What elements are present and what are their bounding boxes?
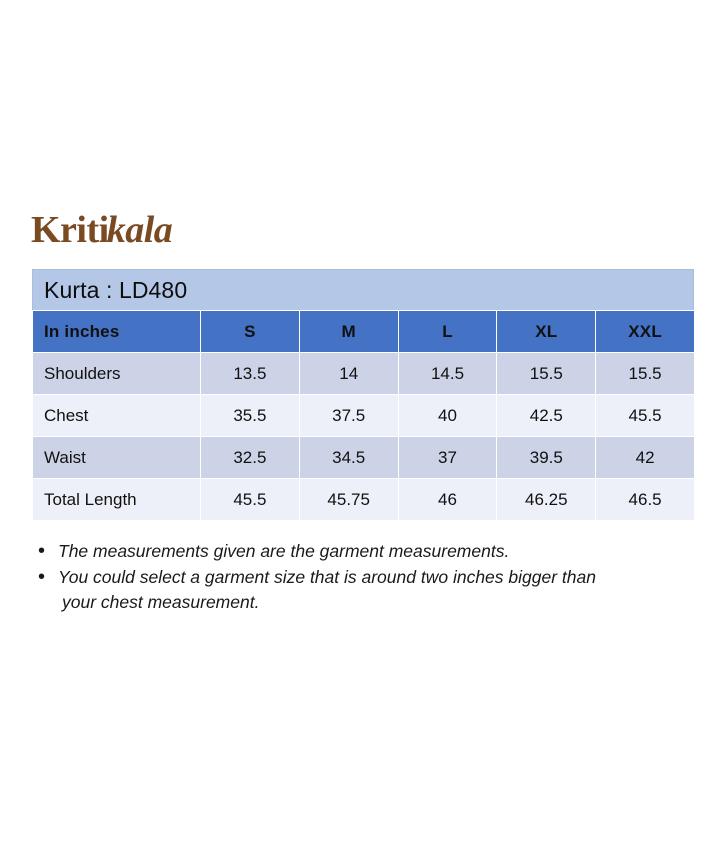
table-row: Waist 32.5 34.5 37 39.5 42 <box>33 437 695 479</box>
row-label-shoulders: Shoulders <box>33 353 201 395</box>
size-chart-table-head: In inches S M L XL XXL <box>33 311 695 353</box>
brand-logo-text-secondary: kala <box>107 209 173 251</box>
cell-waist-xxl: 42 <box>596 437 695 479</box>
row-label-waist: Waist <box>33 437 201 479</box>
cell-total-length-s: 45.5 <box>201 479 300 521</box>
cell-total-length-xl: 46.25 <box>497 479 596 521</box>
table-header-row: In inches S M L XL XXL <box>33 311 695 353</box>
note-line-wrapped: your chest measurement. <box>58 590 706 615</box>
list-item: • You could select a garment size that i… <box>34 565 706 615</box>
size-chart-title: Kurta : LD480 <box>44 279 187 302</box>
cell-shoulders-xl: 15.5 <box>497 353 596 395</box>
cell-waist-s: 32.5 <box>201 437 300 479</box>
cell-waist-xl: 39.5 <box>497 437 596 479</box>
brand-logo-text-primary: Kriti <box>31 209 109 251</box>
cell-chest-l: 40 <box>398 395 497 437</box>
cell-shoulders-s: 13.5 <box>201 353 300 395</box>
note-line: You could select a garment size that is … <box>58 567 596 587</box>
row-label-chest: Chest <box>33 395 201 437</box>
notes-list: • The measurements given are the garment… <box>34 539 706 616</box>
cell-shoulders-xxl: 15.5 <box>596 353 695 395</box>
column-header-xl: XL <box>497 311 596 353</box>
cell-chest-s: 35.5 <box>201 395 300 437</box>
note-text-1: The measurements given are the garment m… <box>58 539 706 564</box>
size-chart-title-band: Kurta : LD480 <box>32 269 694 310</box>
bullet-icon: • <box>34 565 58 590</box>
cell-shoulders-m: 14 <box>299 353 398 395</box>
list-item: • The measurements given are the garment… <box>34 539 706 564</box>
column-header-s: S <box>201 311 300 353</box>
bullet-icon: • <box>34 539 58 564</box>
column-header-unit: In inches <box>33 311 201 353</box>
size-chart-table-block: Kurta : LD480 In inches S M L XL XXL <box>32 269 694 521</box>
size-chart-table: In inches S M L XL XXL Shoulders 13.5 14… <box>32 310 695 521</box>
table-row: Chest 35.5 37.5 40 42.5 45.5 <box>33 395 695 437</box>
cell-chest-m: 37.5 <box>299 395 398 437</box>
cell-waist-m: 34.5 <box>299 437 398 479</box>
cell-total-length-m: 45.75 <box>299 479 398 521</box>
cell-waist-l: 37 <box>398 437 497 479</box>
note-line: The measurements given are the garment m… <box>58 541 509 561</box>
cell-total-length-l: 46 <box>398 479 497 521</box>
cell-total-length-xxl: 46.5 <box>596 479 695 521</box>
size-chart-table-body: Shoulders 13.5 14 14.5 15.5 15.5 Chest 3… <box>33 353 695 521</box>
table-row: Total Length 45.5 45.75 46 46.25 46.5 <box>33 479 695 521</box>
row-label-total-length: Total Length <box>33 479 201 521</box>
column-header-l: L <box>398 311 497 353</box>
cell-chest-xxl: 45.5 <box>596 395 695 437</box>
note-text-2: You could select a garment size that is … <box>58 565 706 615</box>
size-chart-page: Kritikala Kurta : LD480 In inches S M L <box>0 0 720 864</box>
cell-chest-xl: 42.5 <box>497 395 596 437</box>
cell-shoulders-l: 14.5 <box>398 353 497 395</box>
table-row: Shoulders 13.5 14 14.5 15.5 15.5 <box>33 353 695 395</box>
column-header-m: M <box>299 311 398 353</box>
column-header-xxl: XXL <box>596 311 695 353</box>
brand-logo: Kritikala <box>31 208 172 252</box>
